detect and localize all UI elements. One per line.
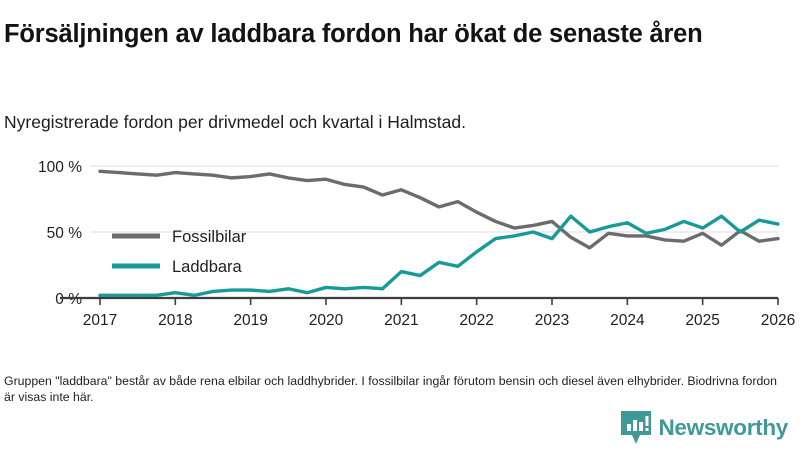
x-axis-tick-label: 2020 bbox=[309, 312, 344, 329]
chart-footnote: Gruppen "laddbara" består av både rena e… bbox=[4, 373, 786, 405]
y-axis-tick-label: 100 % bbox=[38, 159, 82, 176]
chart-plot-area: 0 %50 %100 %2017201820192020202120222023… bbox=[0, 150, 800, 335]
legend-label: Laddbara bbox=[172, 258, 243, 276]
line-chart: 0 %50 %100 %2017201820192020202120222023… bbox=[0, 150, 800, 335]
y-axis-tick-label: 50 % bbox=[47, 225, 83, 242]
x-axis-tick-label: 2026 bbox=[761, 312, 795, 329]
page-title: Försäljningen av laddbara fordon har öka… bbox=[4, 19, 794, 50]
chart-page: Försäljningen av laddbara fordon har öka… bbox=[0, 0, 800, 450]
chart-subtitle: Nyregistrerade fordon per drivmedel och … bbox=[4, 112, 784, 133]
x-axis-tick-label: 2024 bbox=[610, 312, 645, 329]
x-axis-tick-label: 2025 bbox=[685, 312, 719, 329]
x-axis-tick-label: 2023 bbox=[535, 312, 569, 329]
x-axis-tick-label: 2019 bbox=[233, 312, 267, 329]
x-axis-tick-label: 2022 bbox=[459, 312, 493, 329]
newsworthy-logo[interactable]: Newsworthy bbox=[621, 411, 788, 445]
legend-label: Fossilbilar bbox=[172, 228, 247, 246]
x-axis-tick-label: 2018 bbox=[158, 312, 192, 329]
y-axis-tick-label: 0 % bbox=[55, 291, 82, 308]
logo-wordmark: Newsworthy bbox=[658, 417, 788, 440]
bar-chart-pin-icon bbox=[621, 411, 651, 445]
x-axis-tick-label: 2021 bbox=[384, 312, 418, 329]
x-axis-tick-label: 2017 bbox=[83, 312, 117, 329]
